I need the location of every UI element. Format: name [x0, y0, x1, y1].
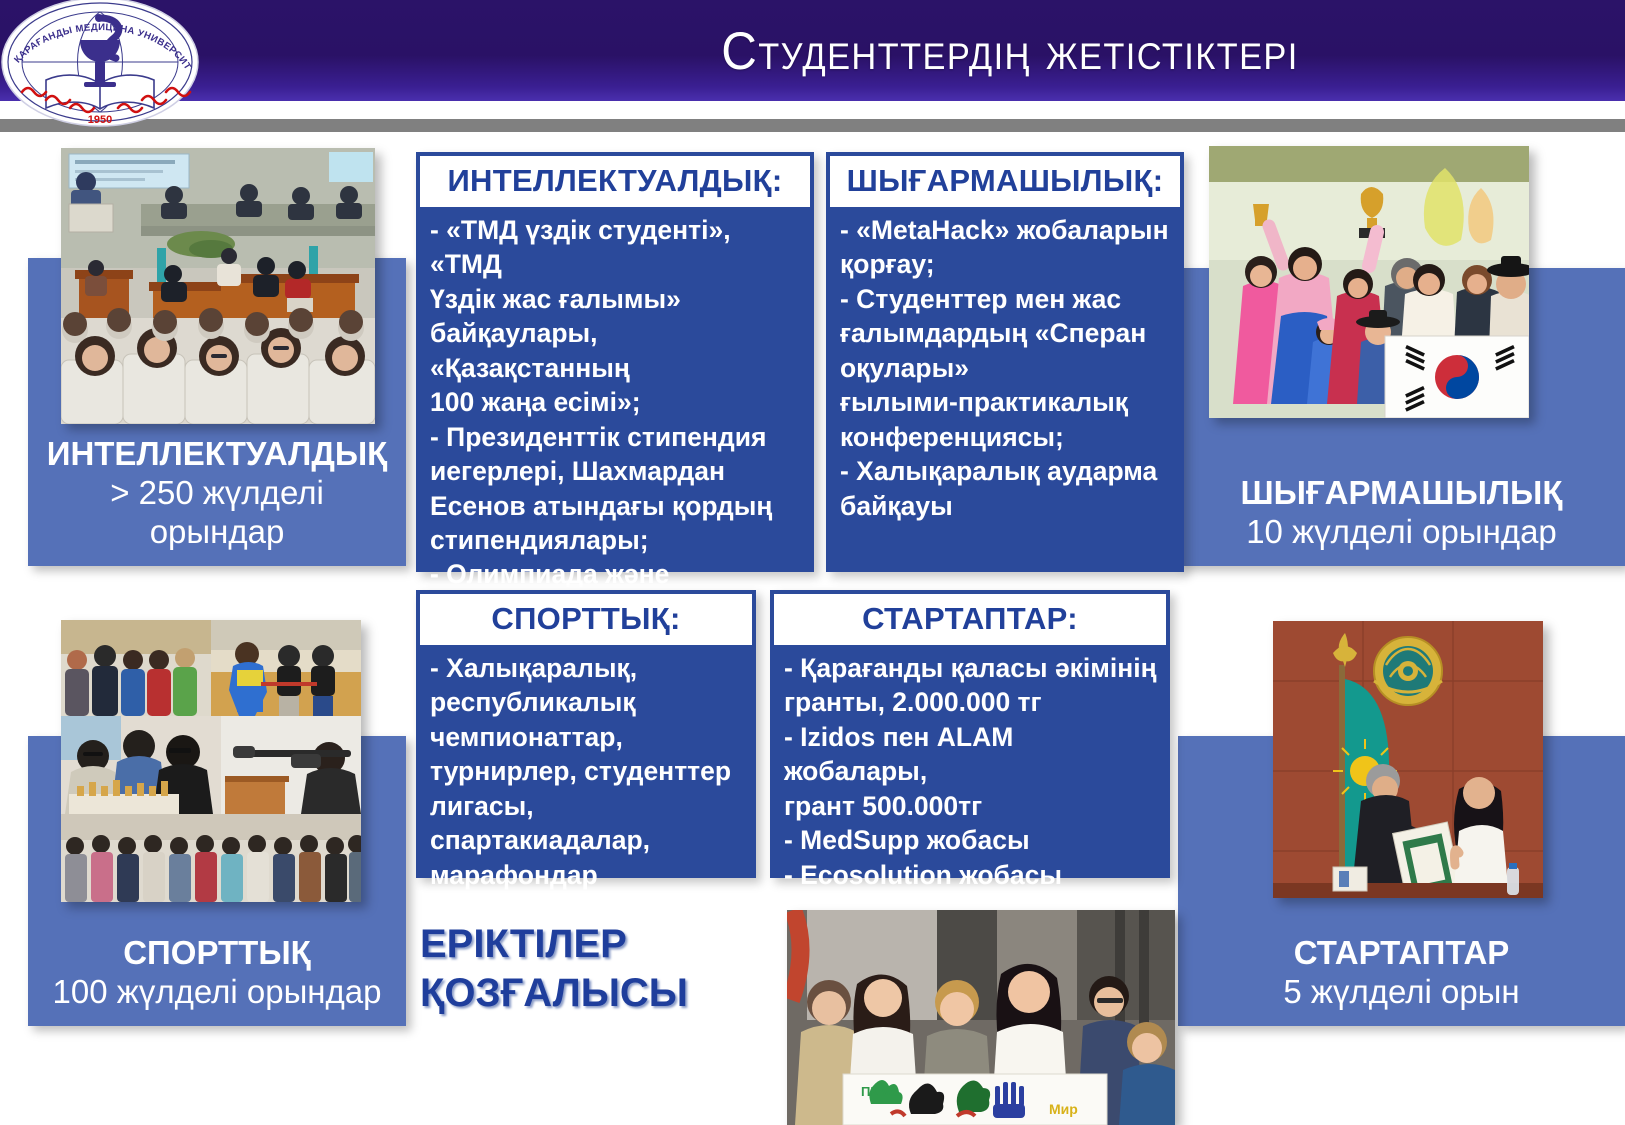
photo-award-ceremony-akim — [1273, 621, 1543, 898]
box-line: - Халықаралық, — [430, 651, 744, 685]
box-line: стипендиялары; — [430, 523, 802, 557]
box-line: - «MetaHack» жобаларын — [840, 213, 1172, 247]
box-line: спартакиадалар, — [430, 823, 744, 857]
volunteer-line-2: ҚОЗҒАЛЫСЫ — [420, 969, 780, 1018]
box-line: марафондар — [430, 858, 744, 892]
box-line: республикалық — [430, 685, 744, 719]
caption-subtitle-1: > 250 жүлделі — [110, 474, 324, 513]
box-line: байқауы — [840, 489, 1172, 523]
photo-sports-collage — [61, 620, 361, 902]
content-box-startups: СТАРТАПТАР: - Қарағанды қаласы әкімінің … — [770, 590, 1170, 878]
photo-volunteers-with-children: ПК va Мир — [787, 910, 1175, 1125]
box-line: - Ecosolution жобасы — [784, 858, 1158, 892]
box-line: гранты, 2.000.000 тг — [784, 685, 1158, 719]
volunteer-line-1: ЕРІКТІЛЕР — [420, 920, 780, 969]
box-line: - «ТМД үздік студенті», «ТМД — [430, 213, 802, 282]
box-line: ғылыми-практикалық — [840, 385, 1172, 419]
box-line: қорғау; — [840, 247, 1172, 281]
content-box-creative: ШЫҒАРМАШЫЛЫҚ: - «MetaHack» жобаларын қор… — [826, 152, 1184, 572]
karaganda-medical-university-logo: ҚАРАҒАНДЫ МЕДИЦИНА УНИВЕРСИТЕТІ — [0, 0, 210, 128]
box-line: Үздік жас ғалымы» — [430, 282, 802, 316]
box-line: иегерлері, Шахмардан — [430, 454, 802, 488]
volunteer-movement-label: ЕРІКТІЛЕР ҚОЗҒАЛЫСЫ — [420, 920, 780, 1018]
content-box-intellectual: ИНТЕЛЛЕКТУАЛДЫҚ: - «ТМД үздік студенті»,… — [416, 152, 814, 572]
box-line: - Олимпиада және — [430, 557, 802, 591]
caption-subtitle-2: орындар — [150, 513, 285, 552]
caption-subtitle-1: 100 жүлделі орындар — [53, 973, 382, 1012]
box-line: ғалымдардың «Сперан — [840, 316, 1172, 350]
box-line: чемпионаттар, — [430, 720, 744, 754]
box-heading: СПОРТТЫҚ: — [420, 594, 752, 645]
photo-korean-festival-award — [1209, 146, 1529, 418]
box-line: конференциясы; — [840, 420, 1172, 454]
box-line: - Izidos пен ALAM жобалары, — [784, 720, 1158, 789]
box-body: - «MetaHack» жобаларын қорғау; - Студент… — [830, 207, 1180, 531]
box-line: байқаулары, «Қазақстанның — [430, 316, 802, 385]
box-line: 100 жаңа есімі»; — [430, 385, 802, 419]
box-line: Есенов атындағы қордың — [430, 489, 802, 523]
page-title: Студенттердің жетістіктері — [461, 11, 1558, 91]
box-line: лигасы, — [430, 789, 744, 823]
caption-title: СТАРТАПТАР — [1294, 934, 1510, 973]
svg-text:ПК va: ПК va — [861, 1084, 897, 1099]
box-line: - Студенттер мен жас — [840, 282, 1172, 316]
logo-year: 1950 — [88, 114, 112, 126]
box-line: - Президенттік стипендия — [430, 420, 802, 454]
box-line: оқулары» — [840, 351, 1172, 385]
svg-text:Мир: Мир — [1049, 1101, 1078, 1117]
caption-subtitle-1: 10 жүлделі орындар — [1246, 513, 1557, 552]
box-heading: ШЫҒАРМАШЫЛЫҚ: — [830, 156, 1180, 207]
box-line: турнирлер, студенттер — [430, 754, 744, 788]
box-heading: СТАРТАПТАР: — [774, 594, 1166, 645]
content-box-sport: СПОРТТЫҚ: - Халықаралық, республикалық ч… — [416, 590, 756, 878]
box-body: - «ТМД үздік студенті», «ТМД Үздік жас ғ… — [420, 207, 810, 634]
caption-title: ШЫҒАРМАШЫЛЫҚ — [1241, 474, 1563, 513]
slide-root: Студенттердің жетістіктері ҚАРАҒАНДЫ МЕД… — [0, 0, 1625, 1125]
box-line: грант 500.000тг — [784, 789, 1158, 823]
box-line: - Халықаралық аударма — [840, 454, 1172, 488]
box-line: - MedSupp жобасы — [784, 823, 1158, 857]
caption-title: СПОРТТЫҚ — [123, 934, 311, 973]
box-body: - Халықаралық, республикалық чемпионатта… — [420, 645, 752, 900]
box-body: - Қарағанды қаласы әкімінің гранты, 2.00… — [774, 645, 1166, 900]
box-heading: ИНТЕЛЛЕКТУАЛДЫҚ: — [420, 156, 810, 207]
caption-subtitle-1: 5 жүлделі орын — [1283, 973, 1519, 1012]
header-divider — [0, 119, 1625, 132]
box-line: - Қарағанды қаласы әкімінің — [784, 651, 1158, 685]
photo-conference-hall — [61, 148, 375, 424]
caption-title: ИНТЕЛЛЕКТУАЛДЫҚ — [47, 435, 388, 474]
